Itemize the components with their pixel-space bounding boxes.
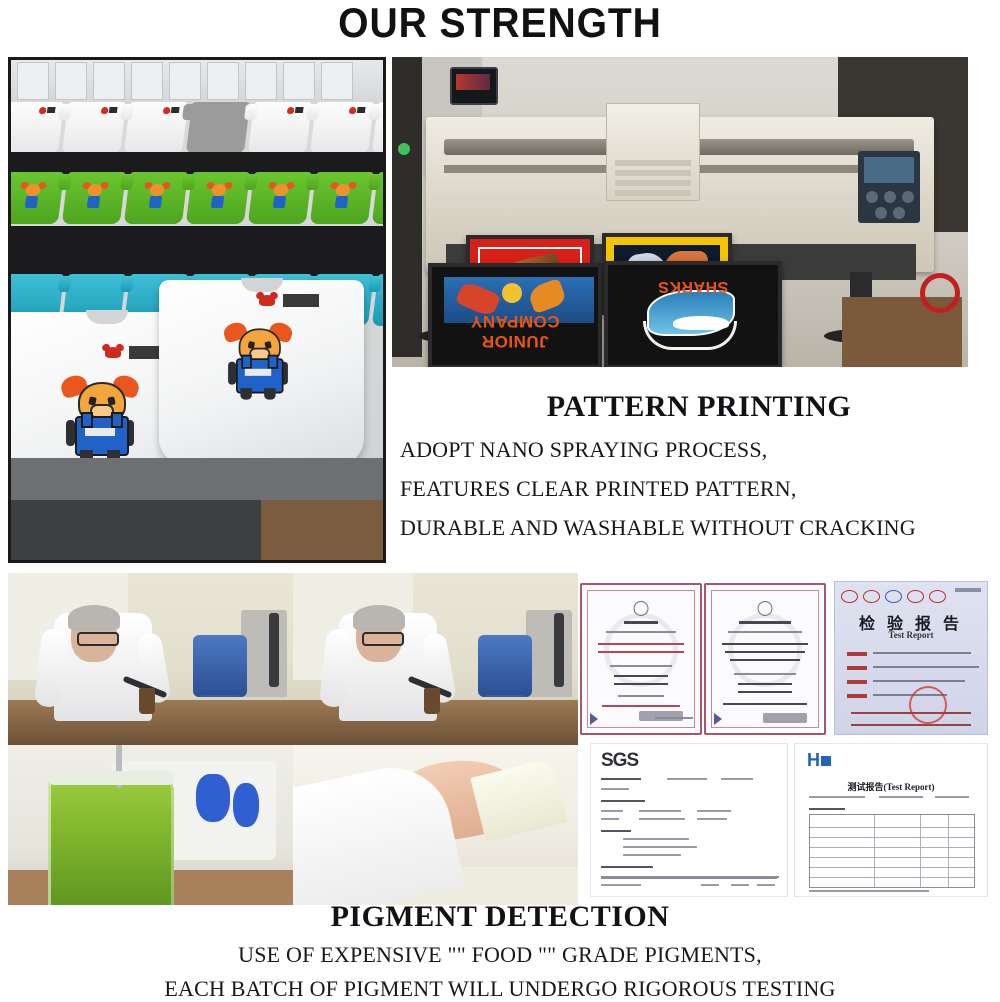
photo-hands-testing-swatch <box>293 745 578 905</box>
pattern-printing-line-2: FEATURES CLEAR PRINTED PATTERN, <box>392 476 992 502</box>
garment-label-junior-company: JUNIOR COMPANY <box>440 311 590 351</box>
pattern-printing-line-1: ADOPT NANO SPRAYING PROCESS, <box>392 437 992 463</box>
certificate-hg-test-report: H 测试报告(Test Report) <box>794 743 988 897</box>
printed-garment-sharks: SHARKS <box>604 261 782 367</box>
wall-background <box>11 60 383 108</box>
printer-monitor <box>450 67 498 105</box>
report-title-english: Test Report <box>835 630 987 640</box>
pattern-printing-text-block: PATTERN PRINTING ADOPT NANO SPRAYING PRO… <box>392 390 992 541</box>
hg-report-title: 测试报告(Test Report) <box>795 780 987 793</box>
page-title: OUR STRENGTH <box>35 0 965 52</box>
certificate-inspection-test-report: 检 验 报 告 Test Report <box>834 581 988 735</box>
certificate-iso-english <box>704 583 826 735</box>
green-pigment-beaker <box>48 780 174 905</box>
pigment-detection-text-block: PIGMENT DETECTION USE OF EXPENSIVE "" FO… <box>0 900 1000 1002</box>
certificates-panel: 检 验 报 告 Test Report SGS <box>578 573 998 905</box>
h-lab-logo: H <box>807 750 831 771</box>
photo-dtg-printer: JUNIOR COMPANY SHARKS <box>392 57 968 367</box>
printer-carriage <box>606 103 700 201</box>
sgs-logo: SGS <box>601 750 638 772</box>
pigment-detection-heading: PIGMENT DETECTION <box>0 900 1000 934</box>
garment-label-sharks: SHARKS <box>616 277 770 295</box>
printed-garment-junior-company: JUNIOR COMPANY <box>428 263 602 367</box>
pattern-printing-heading: PATTERN PRINTING <box>392 390 992 424</box>
h-lab-logo-letter: H <box>807 750 820 770</box>
pigment-detection-line-1: USE OF EXPENSIVE "" FOOD "" GRADE PIGMEN… <box>0 942 1000 968</box>
certificate-iso-chinese <box>580 583 702 735</box>
printed-shirt-foreground-right <box>159 280 364 466</box>
photo-printing-line <box>8 57 386 563</box>
photo-lab-technician-left <box>8 573 293 745</box>
certificate-sgs-test-report: SGS <box>590 743 788 897</box>
conveyor-row-green-shirts <box>8 172 386 232</box>
photo-pigment-beaker <box>8 745 293 905</box>
photo-lab-technician-right <box>293 573 578 745</box>
printer-control-panel[interactable] <box>858 151 920 223</box>
pigment-detection-line-2: EACH BATCH OF PIGMENT WILL UNDERGO RIGOR… <box>0 976 1000 1002</box>
pattern-printing-line-3: DURABLE AND WASHABLE WITHOUT CRACKING <box>392 515 992 541</box>
